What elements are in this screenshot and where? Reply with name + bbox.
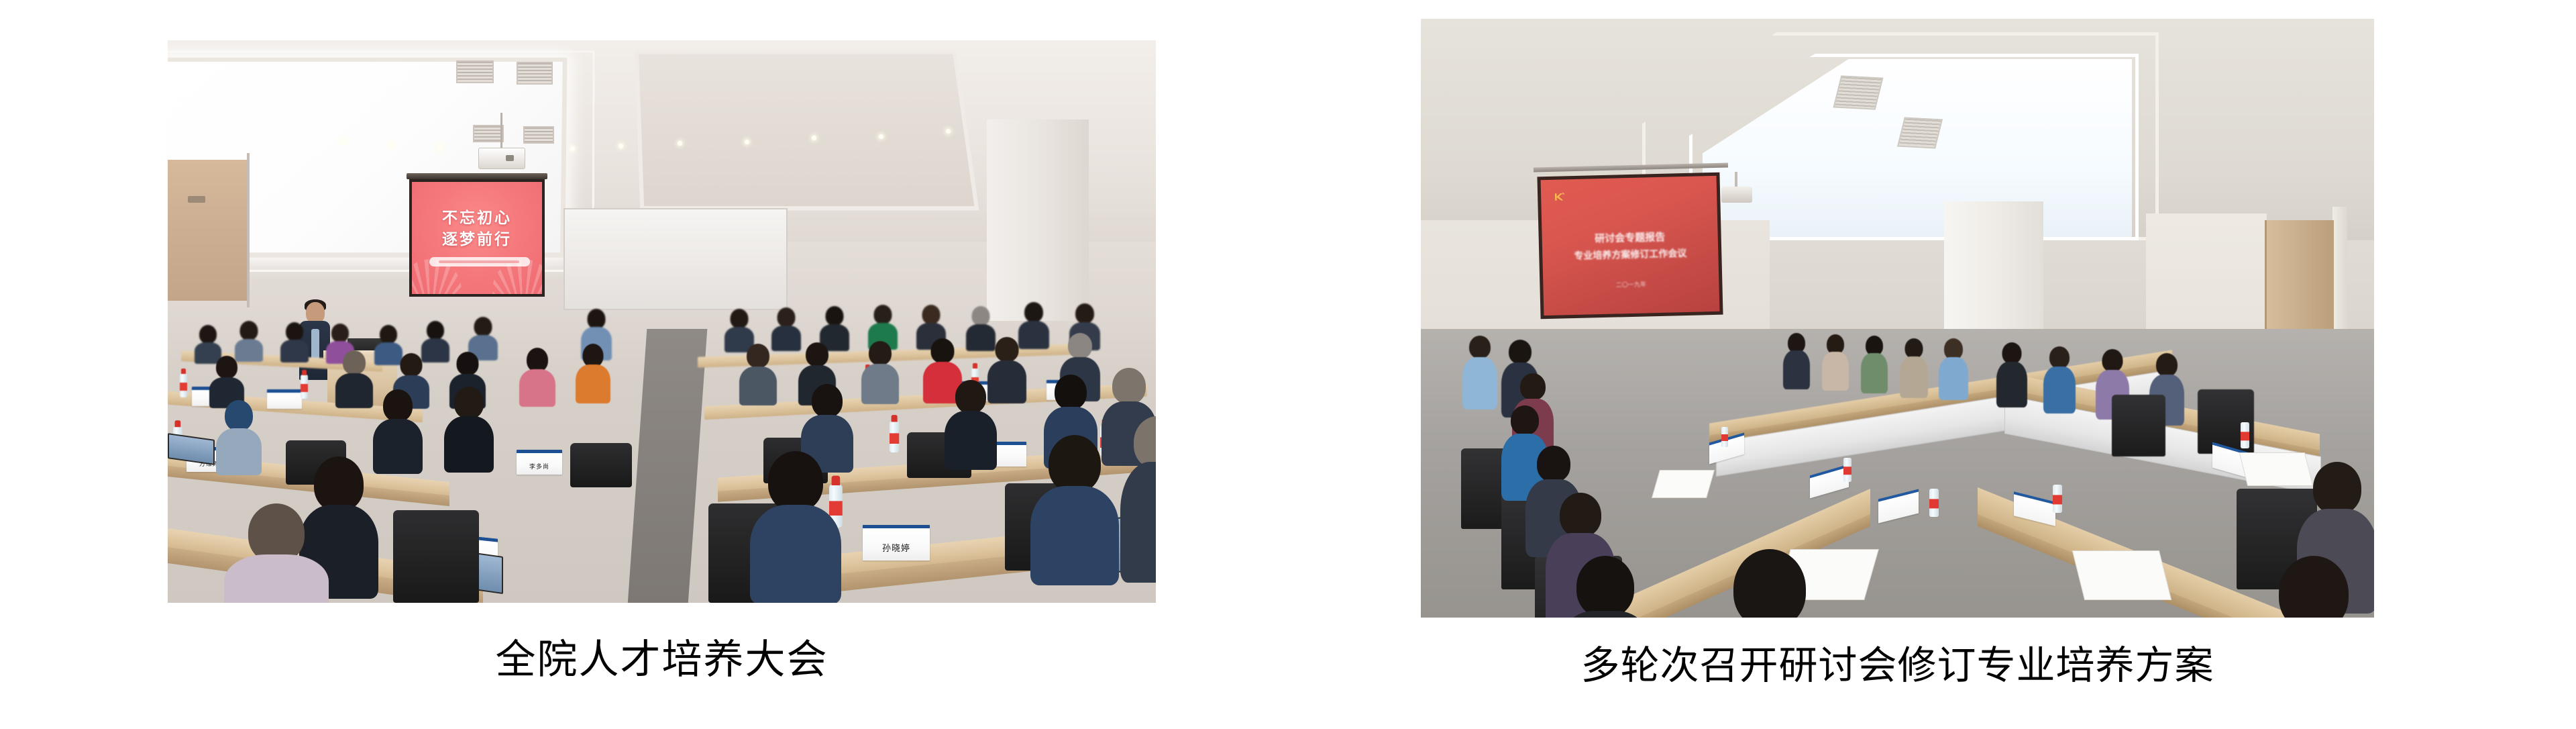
photo1-attendee <box>519 348 555 408</box>
photo2-attendee-foreground <box>2250 556 2374 618</box>
photo1-air-vent <box>523 126 554 144</box>
photo2-slide-line1: 研讨会专题报告 <box>1556 228 1704 246</box>
photo1-water-bottle <box>301 375 308 399</box>
photo2-attendee <box>1939 338 1968 401</box>
photo1-downlight <box>812 136 816 140</box>
photo2-water-bottle <box>1929 489 1939 517</box>
photo1-attendee <box>1120 416 1156 584</box>
photo-lecture-hall: 不忘初心 逐梦前行 <box>168 40 1156 603</box>
photo1-projector <box>478 148 525 169</box>
photo2-slide-line2: 专业培养方案修订工作会议 <box>1556 246 1705 262</box>
photo1-slide-line1: 不忘初心 <box>412 205 542 228</box>
photo2-notepad <box>2072 550 2171 600</box>
photo-seminar-room: 研讨会专题报告 专业培养方案修订工作会议 二〇一九年 <box>1421 19 2374 618</box>
photo2-slide-line3: 二〇一九年 <box>1543 278 1719 291</box>
photo2-attendee <box>1996 342 2027 408</box>
photo1-projection-screen: 不忘初心 逐梦前行 <box>409 179 545 297</box>
photo1-screen-housing <box>407 173 547 179</box>
photo1-attendee <box>576 344 610 405</box>
photo1-downlight <box>341 138 345 143</box>
party-emblem-icon <box>1552 189 1570 207</box>
photo1-slide: 不忘初心 逐梦前行 <box>412 182 542 294</box>
photo2-air-vent <box>1833 75 1883 109</box>
photo1-wall-seam <box>247 153 250 307</box>
photo1-attendee <box>444 387 494 473</box>
photo2-attendee <box>1900 338 1928 399</box>
photo2-attendee <box>1861 336 1888 395</box>
photo1-column <box>987 119 1089 321</box>
photo2-water-bottle <box>2241 422 2249 448</box>
photo1-attendee <box>750 451 841 603</box>
photo2-projector-mount <box>1735 172 1737 188</box>
photo1-downlight <box>570 146 575 151</box>
photo1-chair <box>570 443 632 487</box>
photo2-water-bottle <box>1721 427 1728 447</box>
photo1-downlight <box>437 145 442 150</box>
photo2-attendee <box>1555 556 1656 618</box>
photo1-name-placard: 孙晓婷 <box>863 525 930 561</box>
photo1-water-bottle <box>890 421 899 452</box>
photo1-slide-line2: 逐梦前行 <box>412 226 542 249</box>
photo1-ceiling-recess <box>635 50 979 210</box>
photo1-attendee <box>224 503 329 603</box>
figure-left-caption: 全院人才培养大会 <box>168 638 1156 682</box>
photo1-attendee <box>945 380 997 470</box>
photo2-attendee <box>1783 333 1810 391</box>
photo1-air-vent <box>517 62 553 85</box>
photo1-projector-mount <box>500 113 502 152</box>
photo1-attendee-cap <box>225 400 253 431</box>
figure-pair: 不忘初心 逐梦前行 <box>0 0 2576 729</box>
photo1-air-vent <box>456 60 494 83</box>
photo2-water-bottle <box>2053 485 2062 513</box>
photo1-attendee <box>280 322 309 362</box>
photo1-wood-wall-panel <box>168 160 247 301</box>
photo1-presenter-shirt <box>311 329 319 360</box>
figure-left: 不忘初心 逐梦前行 <box>168 40 1156 682</box>
photo1-name-placard: 李多尚 <box>517 450 562 475</box>
photo1-placard-name: 孙晓婷 <box>863 541 930 554</box>
figure-right: 研讨会专题报告 专业培养方案修订工作会议 二〇一九年 <box>1421 19 2374 687</box>
photo2-attendee-foreground <box>1703 549 1837 618</box>
photo1-water-bottle <box>180 373 187 397</box>
photo2-projector <box>1721 187 1752 203</box>
photo1-attendee <box>335 350 373 408</box>
photo1-downlight <box>946 129 951 134</box>
photo1-attendee-head <box>199 325 217 344</box>
photo1-attendee <box>216 400 262 475</box>
photo2-slide: 研讨会专题报告 专业培养方案修订工作会议 二〇一九年 <box>1541 176 1720 315</box>
photo2-attendee <box>1822 334 1849 392</box>
photo1-attendee <box>861 341 899 404</box>
photo1-attendee <box>739 344 777 405</box>
photo1-downlight <box>879 134 883 139</box>
photo1-chair <box>393 510 479 603</box>
photo1-downlight <box>389 142 394 147</box>
photo2-projection-screen: 研讨会专题报告 专业培养方案修订工作会议 二〇一九年 <box>1537 173 1723 320</box>
photo1-name-placard <box>267 389 302 409</box>
photo2-air-vent <box>1897 117 1943 148</box>
photo1-attendee <box>1030 435 1119 587</box>
photo2-attendee <box>1462 336 1497 408</box>
photo1-downlight <box>678 141 682 146</box>
photo1-downlight <box>745 140 749 144</box>
photo1-air-vent <box>473 125 504 142</box>
photo1-downlight <box>619 144 623 148</box>
photo2-chair <box>2112 395 2165 456</box>
photo1-placard-name: 李多尚 <box>517 462 562 471</box>
photo1-attendee <box>373 389 423 474</box>
photo2-notepad <box>1652 470 1715 498</box>
figure-right-caption: 多轮次召开研讨会修订专业培养方案 <box>1421 644 2374 687</box>
photo1-whiteboard <box>563 208 788 310</box>
photo2-attendee <box>2043 346 2076 415</box>
photo2-water-bottle <box>1843 458 1851 482</box>
photo1-slide-subtitle-bar <box>429 257 530 266</box>
